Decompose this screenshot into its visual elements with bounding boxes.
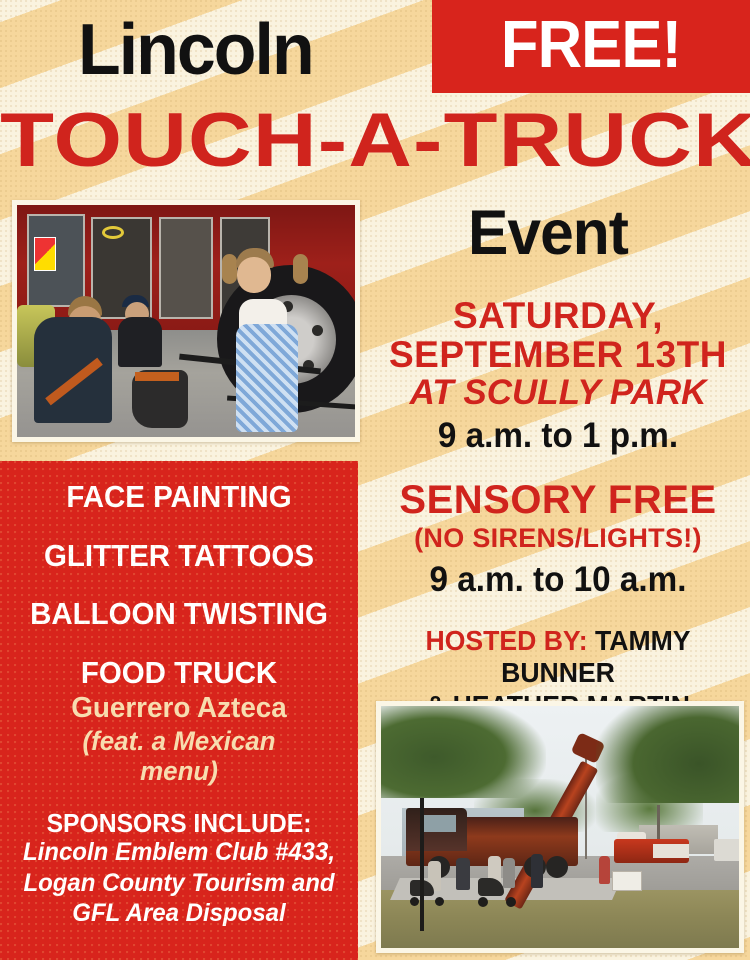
activity-item: GLITTER TATTOOS (9, 540, 349, 573)
sponsor-item: GFL Area Disposal (7, 898, 351, 929)
event-date-block: SATURDAY, SEPTEMBER 13TH AT SCULLY PARK (372, 296, 744, 412)
free-badge: FREE! (432, 0, 750, 93)
sensory-free-subtitle: (NO SIRENS/LIGHTS!) (372, 524, 744, 554)
photo-firefighter-with-children (12, 200, 360, 442)
sensory-free-time: 9 a.m. to 10 a.m. (381, 562, 734, 597)
visitor (503, 858, 515, 888)
fire-truck-compartment (159, 217, 213, 319)
hosts-line-1: HOSTED BY: TAMMY BUNNER (381, 625, 734, 690)
sponsor-item: Logan County Tourism and (7, 868, 351, 899)
tow-truck-window (424, 815, 456, 832)
title-event: Event (385, 202, 711, 265)
girl-gingham-dress (236, 324, 298, 432)
activity-item: BALLOON TWISTING (9, 598, 349, 631)
title-lincoln: Lincoln (78, 14, 313, 86)
sensory-free-block: SENSORY FREE (NO SIRENS/LIGHTS!) 9 a.m. … (372, 480, 744, 597)
hosted-by-label: HOSTED BY: (425, 625, 587, 656)
stroller-wheel (410, 897, 419, 906)
firefighter-body (34, 317, 112, 423)
coiled-hose (102, 226, 124, 239)
event-sign (612, 871, 642, 891)
stroller-wheel (478, 897, 488, 907)
activity-item: FOOD TRUCK (9, 657, 349, 690)
event-date-line-2: SEPTEMBER 13TH (372, 335, 744, 374)
chevron-marking (34, 237, 56, 271)
photo-firefighter-content (17, 205, 355, 437)
title-touch-a-truck: TOUCH-A-TRUCK (0, 103, 750, 179)
poster-canvas: FREE! Lincoln TOUCH-A-TRUCK Event (0, 0, 750, 960)
hydraulic-tool-band (135, 372, 179, 381)
foreground-tree-right (596, 706, 739, 803)
visitor (456, 858, 470, 890)
event-time: 9 a.m. to 1 p.m. (381, 418, 734, 453)
activities-panel: FACE PAINTING GLITTER TATTOOS BALLOON TW… (0, 461, 358, 960)
event-location: AT SCULLY PARK (372, 374, 744, 411)
fence-post (420, 798, 424, 931)
sponsor-item: Lincoln Emblem Club #433, (7, 837, 351, 868)
pickup-bed (653, 844, 689, 859)
parked-van (714, 839, 739, 861)
girl-pigtail (222, 254, 237, 284)
photo-tow-truck-with-boom (376, 701, 744, 953)
sensory-free-title: SENSORY FREE (372, 480, 744, 522)
girl-pigtail (293, 254, 308, 284)
food-truck-note: (feat. a Mexican menu) (7, 726, 351, 786)
free-badge-label: FREE! (501, 11, 681, 82)
activity-item: FACE PAINTING (9, 481, 349, 514)
photo-tow-truck-content (381, 706, 739, 948)
visitor (531, 854, 543, 888)
stroller-wheel (435, 897, 444, 906)
sponsors-heading: SPONSORS INCLUDE: (9, 809, 349, 838)
event-date-line-1: SATURDAY, (372, 296, 744, 335)
tow-truck-wheel (546, 856, 568, 878)
foreground-tree-left (381, 706, 546, 798)
food-truck-vendor: Guerrero Azteca (7, 693, 351, 725)
girl-head (237, 257, 271, 293)
visitor (599, 856, 610, 884)
wheel-lug (312, 325, 323, 336)
child-body (118, 317, 162, 367)
